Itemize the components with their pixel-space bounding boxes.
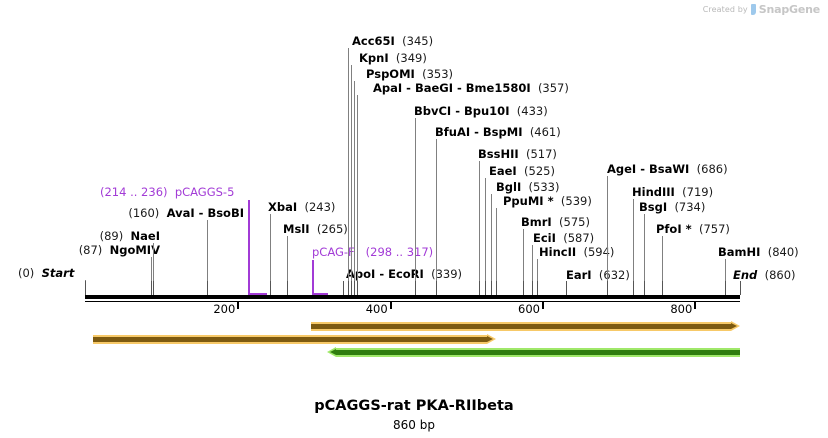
site-position: (575) (559, 215, 590, 229)
enzyme-name: EaeI (489, 164, 517, 178)
feature-arrow-head-inner (330, 349, 336, 355)
dna-strand (85, 295, 740, 299)
site-position: (533) (529, 180, 560, 194)
enzyme-name: MslI (283, 222, 310, 236)
enzyme-separator: - (636, 162, 649, 176)
site-tick (662, 281, 663, 295)
primer-range: (298 .. 317) (366, 245, 434, 259)
restriction-site-label[interactable]: BglI (533) (496, 181, 559, 193)
enzyme-separator: - (453, 81, 466, 95)
feature-arrow[interactable] (93, 335, 497, 344)
enzyme-name: EcoRI (388, 267, 424, 281)
primer-label[interactable]: (214 .. 236) pCAGGS-5 (100, 186, 234, 198)
feature-arrow-body (93, 335, 488, 344)
enzyme-name: EarI (566, 268, 592, 282)
site-position: (353) (422, 67, 453, 81)
enzyme-separator: - (451, 104, 464, 118)
site-position: (525) (524, 164, 555, 178)
enzyme-name: PspOMI (366, 67, 415, 81)
site-tick (523, 281, 524, 295)
restriction-site-label[interactable]: ApaI - BaeGI - Bme1580I (357) (373, 82, 569, 94)
primer-range: (214 .. 236) (100, 185, 168, 199)
enzyme-name: BbvCI (414, 104, 451, 118)
site-tick (725, 281, 726, 295)
ruler-tick (694, 301, 696, 309)
ruler-tick-label: 400 (328, 302, 388, 316)
site-tick (436, 281, 437, 295)
enzyme-name: BmrI (521, 215, 552, 229)
end-label[interactable]: End (860) (733, 269, 796, 281)
site-tick (537, 281, 538, 295)
restriction-site-label[interactable]: (87) NgoMIV (79, 244, 160, 256)
restriction-site-label[interactable]: MslI (265) (283, 223, 348, 235)
restriction-site-label[interactable]: PpuMI * (539) (503, 195, 592, 207)
site-tick (207, 281, 208, 295)
enzyme-name: Bme1580I (466, 81, 531, 95)
site-leader-line (348, 48, 349, 293)
enzyme-name: XbaI (268, 200, 297, 214)
enzyme-name: KpnI (359, 51, 389, 65)
site-position: (594) (583, 245, 614, 259)
enzyme-name: AvaI (167, 206, 195, 220)
primer-bracket[interactable] (312, 260, 328, 295)
site-position: (433) (517, 104, 548, 118)
feature-arrow-head (731, 321, 740, 331)
enzyme-name: PpuMI * (503, 194, 554, 208)
enzyme-name: BssHII (478, 147, 519, 161)
site-tick (532, 281, 533, 295)
enzyme-name: Bpu10I (464, 104, 509, 118)
snapgene-credit: Created by SnapGene (703, 3, 820, 16)
enzyme-name: HindIII (632, 185, 675, 199)
site-position: (539) (561, 194, 592, 208)
feature-arrow-body (311, 322, 731, 331)
site-position: (719) (682, 185, 713, 199)
enzyme-name: AgeI (607, 162, 636, 176)
credit-prefix: Created by (703, 5, 748, 14)
restriction-site-label[interactable]: HincII (594) (539, 246, 614, 258)
site-position: (243) (304, 200, 335, 214)
restriction-site-label[interactable]: PspOMI (353) (366, 68, 453, 80)
site-position: (265) (317, 222, 348, 236)
site-tick (354, 281, 355, 295)
snapgene-bookmark-icon (751, 4, 756, 15)
site-position: (461) (530, 125, 561, 139)
site-leader-line (415, 118, 416, 293)
site-position: (357) (538, 81, 569, 95)
enzyme-name: BamHI (718, 245, 760, 259)
enzyme-name: Acc65I (352, 34, 395, 48)
site-position: (632) (599, 268, 630, 282)
site-position: (587) (563, 231, 594, 245)
site-tick (357, 281, 358, 295)
ruler-tick-label: 200 (175, 302, 235, 316)
credit-brand: SnapGene (759, 3, 820, 16)
enzyme-name: PfoI * (656, 222, 692, 236)
enzyme-name: BspMI (483, 125, 523, 139)
site-position: (517) (526, 147, 557, 161)
restriction-site-label[interactable]: (89) NaeI (100, 230, 160, 242)
enzyme-name: HincII (539, 245, 576, 259)
restriction-site-label[interactable]: BmrI (575) (521, 216, 590, 228)
site-position: (89) (100, 229, 124, 243)
restriction-site-label[interactable]: BamHI (840) (718, 246, 799, 258)
site-leader-line (633, 199, 634, 293)
restriction-site-label[interactable]: AgeI - BsaWI (686) (607, 163, 728, 175)
site-tick (348, 281, 349, 295)
terminal-name: End (733, 268, 757, 282)
restriction-site-label[interactable]: HindIII (719) (632, 186, 713, 198)
ruler-tick-label: 800 (632, 302, 692, 316)
site-tick (479, 281, 480, 295)
enzyme-separator: - (402, 81, 415, 95)
restriction-site-label[interactable]: Acc65I (345) (352, 35, 433, 47)
enzyme-name: EciI (533, 231, 556, 245)
plasmid-map: Created by SnapGene (87) NgoMIV(89) NaeI… (0, 0, 828, 438)
site-tick (566, 281, 567, 295)
enzyme-name: BsgI (639, 200, 667, 214)
primer-bracket[interactable] (248, 200, 267, 295)
plasmid-length: 860 bp (0, 418, 828, 432)
site-tick (153, 281, 154, 295)
site-leader-line (436, 139, 437, 293)
restriction-site-label[interactable]: PfoI * (757) (656, 223, 730, 235)
feature-arrow-head (327, 347, 336, 357)
ruler-tick-label: 600 (480, 302, 540, 316)
site-tick (287, 281, 288, 295)
enzyme-name: BsaWI (649, 162, 689, 176)
site-position: (734) (674, 200, 705, 214)
site-leader-line (357, 95, 358, 293)
enzyme-separator: - (375, 267, 388, 281)
feature-arrow-head (487, 334, 496, 344)
enzyme-name: NaeI (131, 229, 160, 243)
site-position: (349) (396, 51, 427, 65)
site-tick (644, 281, 645, 295)
enzyme-name: BglI (496, 180, 521, 194)
site-leader-line (354, 81, 355, 293)
restriction-site-label[interactable]: XbaI (243) (268, 201, 335, 213)
enzyme-name: BsoBI (207, 206, 244, 220)
terminal-name: Start (42, 266, 75, 280)
enzyme-name: ApaI (373, 81, 402, 95)
site-tick (740, 281, 741, 295)
restriction-site-label[interactable]: ApoI - EcoRI (339) (346, 268, 462, 280)
site-tick (485, 281, 486, 295)
enzyme-separator: - (470, 125, 483, 139)
restriction-site-label[interactable]: EarI (632) (566, 269, 630, 281)
site-tick (607, 281, 608, 295)
site-position: (686) (697, 162, 728, 176)
terminal-position: (0) (18, 266, 34, 280)
feature-arrow-head-inner (487, 336, 493, 342)
site-tick (633, 281, 634, 295)
site-position: (160) (128, 206, 159, 220)
site-tick (343, 281, 344, 295)
start-label[interactable]: (0) Start (18, 267, 74, 279)
primer-name: pCAGGS-5 (175, 185, 235, 199)
terminal-position: (860) (765, 268, 796, 282)
ruler-tick (542, 301, 544, 309)
restriction-site-label[interactable]: EaeI (525) (489, 165, 555, 177)
site-leader-line (607, 176, 608, 293)
site-position: (757) (699, 222, 730, 236)
site-tick (351, 281, 352, 295)
site-leader-line (485, 178, 486, 293)
feature-arrow[interactable] (311, 322, 740, 331)
page-title: pCAGGS-rat PKA-RIIbeta (0, 398, 828, 414)
restriction-site-label[interactable]: BbvCI - Bpu10I (433) (414, 105, 548, 117)
ruler-tick (390, 301, 392, 309)
site-leader-line (491, 194, 492, 293)
restriction-site-label[interactable]: (160) AvaI - BsoBI (128, 207, 244, 219)
restriction-site-label[interactable]: EciI (587) (533, 232, 594, 244)
site-tick (270, 281, 271, 295)
enzyme-name: BfuAI (435, 125, 470, 139)
restriction-site-label[interactable]: BfuAI - BspMI (461) (435, 126, 561, 138)
feature-arrow[interactable] (327, 348, 740, 357)
restriction-site-label[interactable]: KpnI (349) (359, 52, 427, 64)
enzyme-name: BaeGI (415, 81, 453, 95)
site-leader-line (479, 161, 480, 293)
ruler-tick (237, 301, 239, 309)
site-tick (491, 281, 492, 295)
feature-arrow-body (336, 348, 740, 357)
site-tick (496, 281, 497, 295)
site-position: (345) (402, 34, 433, 48)
restriction-site-label[interactable]: BssHII (517) (478, 148, 557, 160)
site-tick (415, 281, 416, 295)
feature-arrow-head-inner (731, 323, 737, 329)
site-tick (85, 281, 86, 295)
enzyme-separator: - (195, 206, 208, 220)
site-position: (840) (768, 245, 799, 259)
site-leader-line (351, 65, 352, 293)
site-position: (87) (79, 243, 103, 257)
restriction-site-label[interactable]: BsgI (734) (639, 201, 705, 213)
